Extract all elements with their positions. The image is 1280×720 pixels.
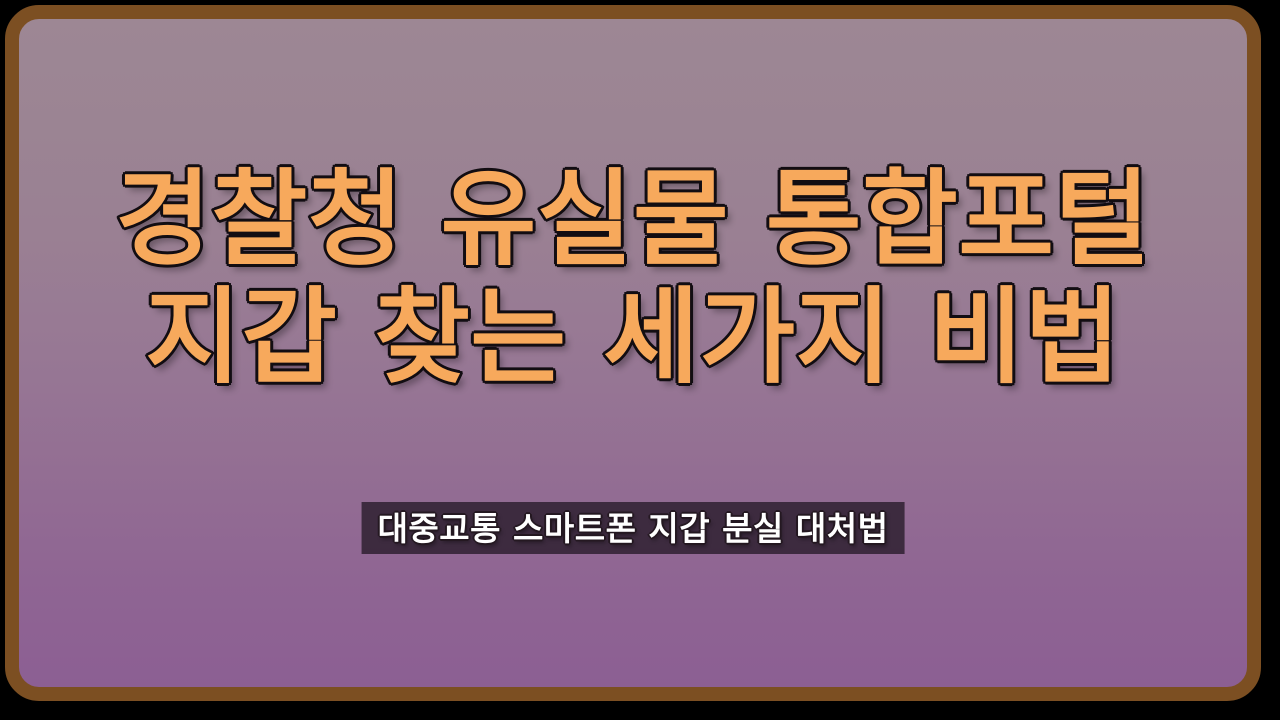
subtitle-banner: 대중교통 스마트폰 지갑 분실 대처법: [362, 502, 905, 554]
gradient-background: 경찰청 유실물 통합포털 지갑 찾는 세가지 비법 대중교통 스마트폰 지갑 분…: [19, 19, 1247, 687]
subtitle-text: 대중교통 스마트폰 지갑 분실 대처법: [378, 512, 889, 545]
headline-title: 경찰청 유실물 통합포털 지갑 찾는 세가지 비법: [19, 167, 1247, 389]
headline-line-2: 지갑 찾는 세가지 비법: [19, 285, 1247, 389]
thumbnail-image: 경찰청 유실물 통합포털 지갑 찾는 세가지 비법 대중교통 스마트폰 지갑 분…: [0, 0, 1280, 720]
headline-line-1: 경찰청 유실물 통합포털: [19, 167, 1247, 271]
rounded-border-frame: 경찰청 유실물 통합포털 지갑 찾는 세가지 비법 대중교통 스마트폰 지갑 분…: [5, 5, 1261, 701]
